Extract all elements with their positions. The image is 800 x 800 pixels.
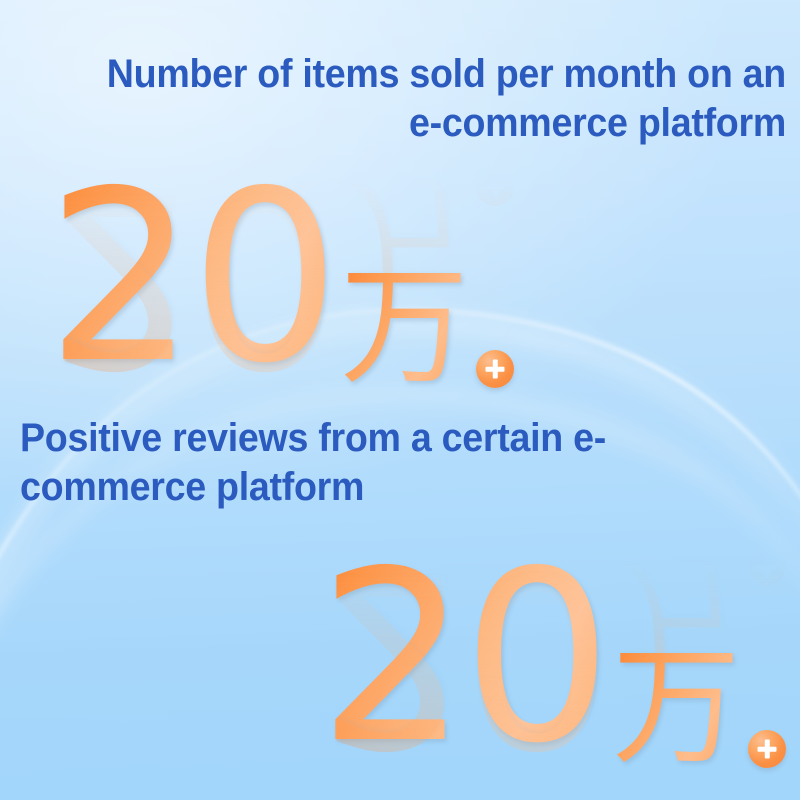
plus-badge-icon (476, 350, 514, 388)
stat-positive-reviews: 20 万 20 万 (318, 540, 786, 776)
headline-items-sold: Number of items sold per month on an e-c… (85, 50, 786, 148)
stat-unit-positive-reviews: 万 (612, 644, 740, 772)
reflection-plus-badge-icon (748, 548, 786, 586)
stats-poster: Number of items sold per month on an e-c… (0, 0, 800, 800)
stat-unit-items-sold: 万 (340, 264, 468, 392)
plus-badge-icon (748, 730, 786, 768)
reflection-plus-badge-icon (476, 168, 514, 206)
stat-value-positive-reviews: 20 (318, 540, 610, 776)
stat-value-items-sold: 20 (46, 160, 338, 396)
stat-positive-reviews-inner: 20 万 20 万 (318, 540, 786, 776)
stat-items-sold-inner: 20 万 20 万 (46, 160, 514, 396)
stat-items-sold: 20 万 20 万 (46, 160, 514, 396)
headline-positive-reviews: Positive reviews from a certain e-commer… (20, 414, 716, 512)
